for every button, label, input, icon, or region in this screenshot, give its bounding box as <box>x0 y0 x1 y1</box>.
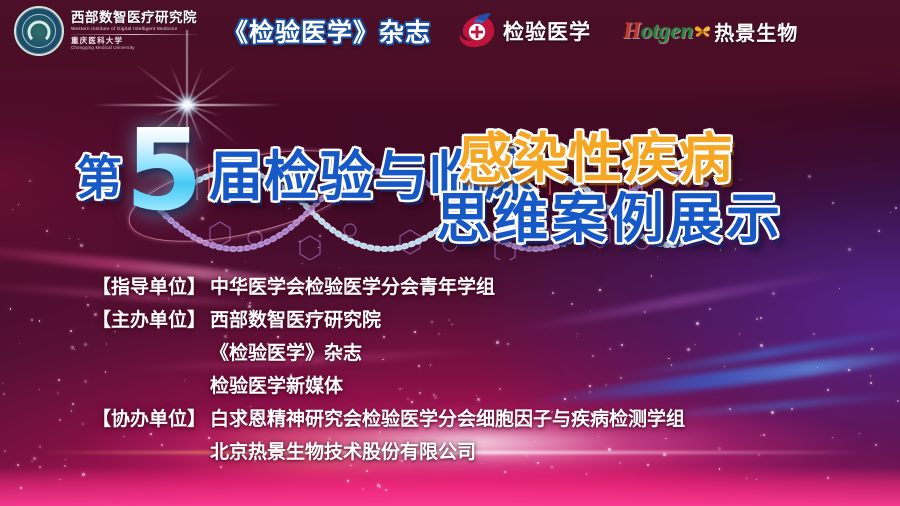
credit-subline: 《检验医学》杂志 <box>210 338 872 365</box>
header-logo-bar: 西部数智医疗研究院 Western Institute of Digital I… <box>0 0 900 62</box>
institute-divider <box>71 34 197 35</box>
credit-row: 【指导单位】 中华医学会检验医学分会青年学组 <box>92 272 872 299</box>
credit-row: 【协办单位】 白求恩精神研究会检验医学分会细胞因子与疾病检测学组 <box>92 404 872 431</box>
university-cn-name: 重庆医科大学 <box>71 36 197 45</box>
credit-label: 【主办单位】 <box>92 305 210 332</box>
credit-subline: 北京热景生物技术股份有限公司 <box>210 437 872 464</box>
hotgen-cn-name: 热景生物 <box>714 17 798 46</box>
western-institute-text: 西部数智医疗研究院 Western Institute of Digital I… <box>71 11 197 51</box>
institute-cn-name: 西部数智医疗研究院 <box>71 11 197 25</box>
credit-value: 西部数智医疗研究院 <box>210 305 381 332</box>
hotgen-en-name: Hotgen <box>623 18 693 44</box>
hotgen-logo: Hotgen 热景生物 <box>623 6 798 56</box>
lab-medicine-title: 检验医学 <box>503 16 591 46</box>
hotgen-en-rest: otgen <box>641 18 693 43</box>
bottom-pink-glow <box>0 466 900 506</box>
hotgen-initial: H <box>623 18 641 43</box>
title-line-2: 思维案例展示 <box>436 174 784 253</box>
credit-subline: 检验医学新媒体 <box>210 371 872 398</box>
credit-label: 【指导单位】 <box>92 272 210 299</box>
lab-medicine-swoosh-icon <box>455 11 497 51</box>
institute-seal-icon <box>14 6 64 56</box>
lab-medicine-logo: 检验医学 <box>455 6 591 56</box>
credit-label: 【协办单位】 <box>92 404 210 431</box>
credit-value: 白求恩精神研究会检验医学分会细胞因子与疾病检测学组 <box>210 404 685 431</box>
butterfly-icon <box>694 24 711 39</box>
journal-title: 《检验医学》杂志 <box>223 13 431 49</box>
credit-value: 中华医学会检验医学分会青年学组 <box>210 272 495 299</box>
journal-logo: 《检验医学》杂志 <box>223 6 431 56</box>
main-title: 第 5 届检验与临床 感染性疾病 思维案例展示 <box>0 96 900 246</box>
title-prefix: 第 <box>76 155 123 204</box>
credits-block: 【指导单位】 中华医学会检验医学分会青年学组 【主办单位】 西部数智医疗研究院 … <box>92 272 872 470</box>
western-institute-logo: 西部数智医疗研究院 Western Institute of Digital I… <box>14 6 197 56</box>
university-en-name: Chongqing Medical University <box>71 45 197 51</box>
institute-en-name: Western Institute of Digital Intelligent… <box>71 26 197 32</box>
credit-row: 【主办单位】 西部数智医疗研究院 <box>92 305 872 332</box>
title-edition-number: 5 <box>125 126 203 218</box>
poster-canvas: 西部数智医疗研究院 Western Institute of Digital I… <box>0 0 900 506</box>
